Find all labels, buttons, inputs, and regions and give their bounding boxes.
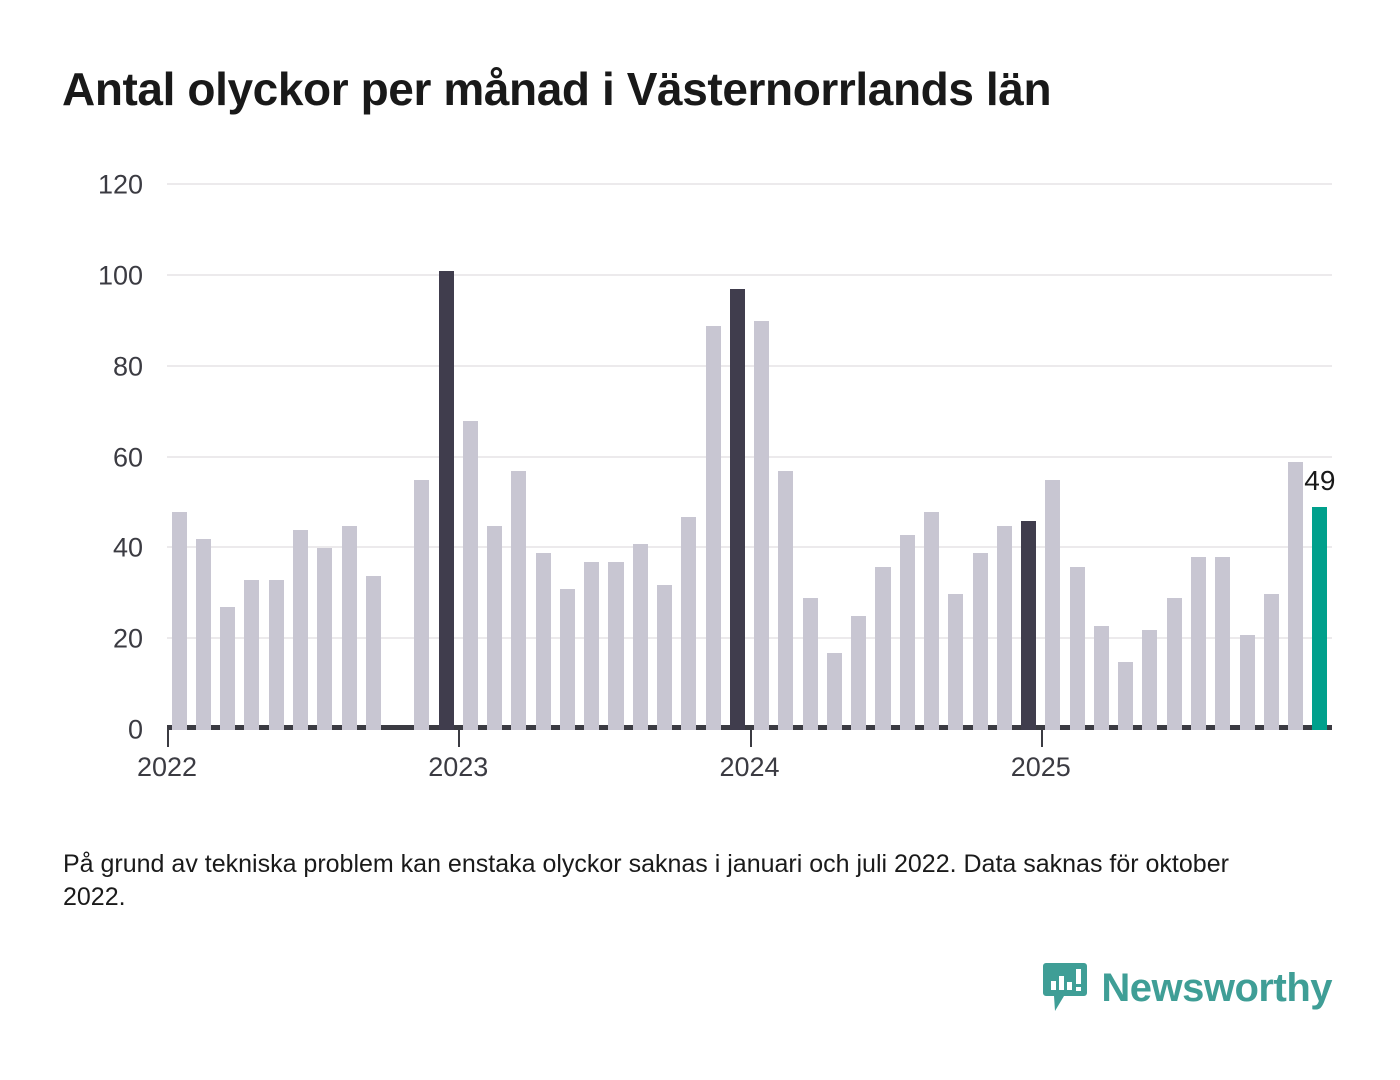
- bar[interactable]: [536, 553, 551, 730]
- bar[interactable]: [487, 526, 502, 730]
- bar[interactable]: [463, 421, 478, 730]
- bar[interactable]: [1070, 567, 1085, 731]
- y-axis-tick-label: 0: [53, 715, 143, 746]
- x-axis-tick-label: 2023: [428, 752, 488, 783]
- y-axis-tick-label: 60: [53, 442, 143, 473]
- x-axis-tick-label: 2025: [1011, 752, 1071, 783]
- bar[interactable]: [1094, 626, 1109, 730]
- bar[interactable]: [172, 512, 187, 730]
- bar[interactable]: [851, 616, 866, 730]
- page-title: Antal olyckor per månad i Västernorrland…: [62, 62, 1051, 116]
- x-axis-tick-label: 2022: [137, 752, 197, 783]
- bar[interactable]: [293, 530, 308, 730]
- x-axis-tick: [167, 730, 169, 747]
- bar[interactable]: [633, 544, 648, 730]
- bar[interactable]: [827, 653, 842, 730]
- bar[interactable]: [196, 539, 211, 730]
- y-axis-tick-label: 100: [53, 260, 143, 291]
- bar[interactable]: [730, 289, 745, 730]
- bar[interactable]: [317, 548, 332, 730]
- chart-container: 49 020406080100120 2022202320242025: [62, 160, 1332, 790]
- x-axis: 2022202320242025: [167, 730, 1332, 790]
- bar-group: [167, 185, 1332, 730]
- bar[interactable]: [924, 512, 939, 730]
- plot-area: 49: [167, 185, 1332, 730]
- bar[interactable]: [1167, 598, 1182, 730]
- bar[interactable]: [220, 607, 235, 730]
- bar[interactable]: [681, 517, 696, 730]
- x-axis-tick: [750, 730, 752, 747]
- bar[interactable]: [1240, 635, 1255, 730]
- bar[interactable]: [778, 471, 793, 730]
- bar[interactable]: [657, 585, 672, 730]
- bar[interactable]: [1215, 557, 1230, 730]
- bar[interactable]: [1118, 662, 1133, 730]
- bar[interactable]: [754, 321, 769, 730]
- bar[interactable]: [948, 594, 963, 730]
- bar[interactable]: [706, 326, 721, 730]
- newsworthy-bars-bubble-icon: [1042, 962, 1088, 1014]
- x-axis-tick: [458, 730, 460, 747]
- bar[interactable]: [244, 580, 259, 730]
- y-axis-tick-label: 80: [53, 351, 143, 382]
- bar[interactable]: [997, 526, 1012, 730]
- bar[interactable]: [1264, 594, 1279, 730]
- bar[interactable]: [1021, 521, 1036, 730]
- bar[interactable]: [584, 562, 599, 730]
- x-axis-tick: [1041, 730, 1043, 747]
- bar[interactable]: [973, 553, 988, 730]
- newsworthy-wordmark: Newsworthy: [1101, 968, 1332, 1008]
- bar[interactable]: [342, 526, 357, 730]
- y-axis-tick-label: 40: [53, 533, 143, 564]
- bar[interactable]: [269, 580, 284, 730]
- newsworthy-logo: Newsworthy: [1042, 962, 1332, 1014]
- chart-page: Antal olyckor per månad i Västernorrland…: [0, 0, 1400, 1080]
- bar[interactable]: [1312, 507, 1327, 730]
- bar[interactable]: [803, 598, 818, 730]
- bar[interactable]: [875, 567, 890, 731]
- bar[interactable]: [414, 480, 429, 730]
- bar-value-label: 49: [1304, 465, 1335, 497]
- footnote-text: På grund av tekniska problem kan enstaka…: [63, 848, 1278, 913]
- bar[interactable]: [1142, 630, 1157, 730]
- bar[interactable]: [560, 589, 575, 730]
- y-axis-tick-label: 120: [53, 170, 143, 201]
- bar[interactable]: [900, 535, 915, 730]
- bar[interactable]: [1045, 480, 1060, 730]
- bar[interactable]: [608, 562, 623, 730]
- bar[interactable]: [1288, 462, 1303, 730]
- bar[interactable]: [511, 471, 526, 730]
- y-axis-tick-label: 20: [53, 624, 143, 655]
- x-axis-tick-label: 2024: [719, 752, 779, 783]
- bar[interactable]: [1191, 557, 1206, 730]
- bar[interactable]: [439, 271, 454, 730]
- bar[interactable]: [366, 576, 381, 730]
